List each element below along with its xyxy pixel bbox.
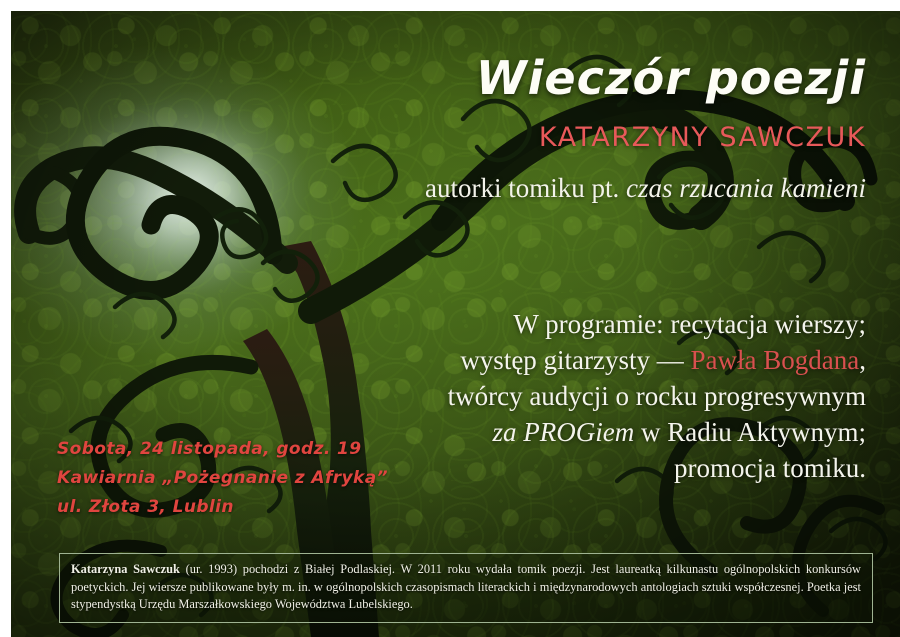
programme-line-2-suffix: , [859, 345, 866, 375]
biography-name: Katarzyna Sawczuk [71, 562, 180, 576]
poet-name-heading: KATARZYNY SAWCZUK [539, 124, 866, 151]
programme-line-2: występ gitarzysty — Pawła Bogdana, [448, 343, 866, 379]
book-title: czas rzucania kamieni [626, 173, 866, 203]
event-place: Kawiarnia „Pożegnanie z Afryką” [57, 464, 388, 493]
programme-block: W programie: recytacja wierszy; występ g… [448, 307, 866, 487]
book-title-prefix: autorki tomiku pt. [425, 173, 626, 203]
event-date: Sobota, 24 listopada, godz. 19 [57, 435, 388, 464]
venue-block: Sobota, 24 listopada, godz. 19 Kawiarnia… [57, 435, 388, 523]
programme-line-4-rest: w Radiu Aktywnym; [634, 417, 866, 447]
poster: Wieczór poezji KATARZYNY SAWCZUK autorki… [0, 0, 900, 637]
programme-line-2-prefix: występ gitarzysty — [460, 345, 690, 375]
radio-show-title: za PROGiem [493, 417, 635, 447]
programme-line-1: W programie: recytacja wierszy; [448, 307, 866, 343]
book-title-line: autorki tomiku pt. czas rzucania kamieni [425, 172, 866, 206]
programme-line-3: twórcy audycji o rocku progresywnym [448, 379, 866, 415]
biography-text: Katarzyna Sawczuk (ur. 1993) pochodzi z … [71, 561, 861, 614]
event-address: ul. Złota 3, Lublin [57, 493, 388, 522]
biography-body: (ur. 1993) pochodzi z Białej Podlaskiej.… [71, 562, 861, 611]
poster-headline: Wieczór poezji [476, 55, 866, 101]
guest-artist-name: Pawła Bogdana [691, 345, 860, 375]
biography-box: Katarzyna Sawczuk (ur. 1993) pochodzi z … [59, 553, 873, 623]
programme-line-4: za PROGiem w Radiu Aktywnym; [448, 415, 866, 451]
programme-line-5: promocja tomiku. [448, 451, 866, 487]
poster-artwork: Wieczór poezji KATARZYNY SAWCZUK autorki… [11, 11, 900, 637]
